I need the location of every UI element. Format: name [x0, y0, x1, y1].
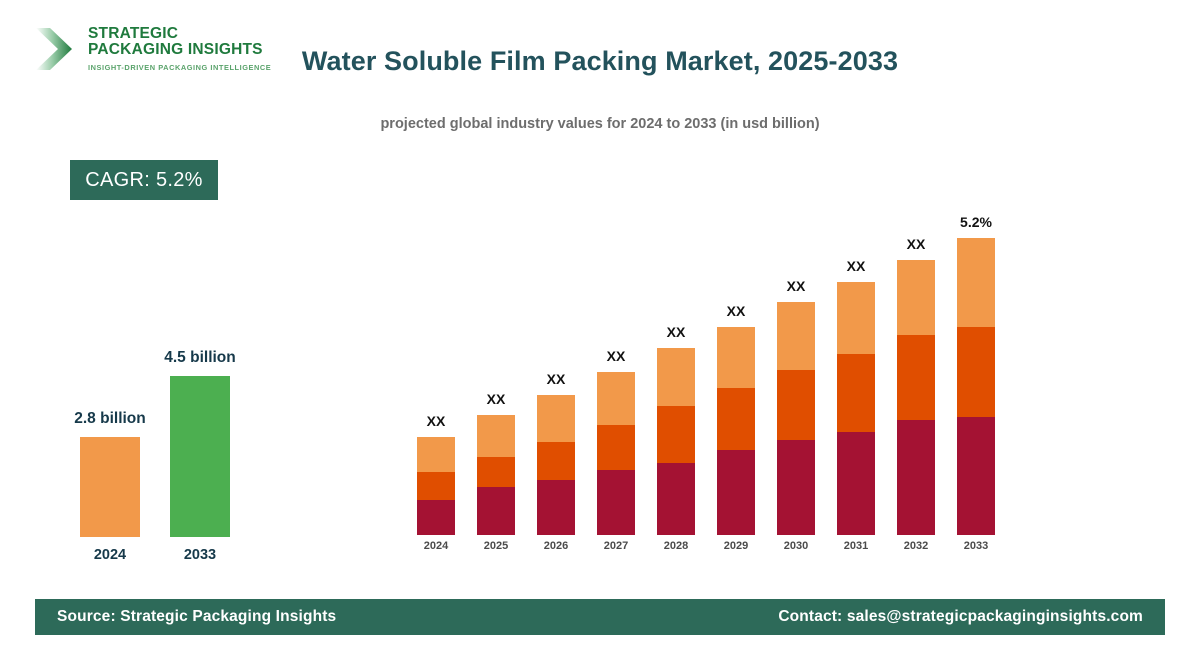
stacked-bar-2030-segment-2 — [777, 370, 815, 440]
stacked-bar-value-2028: XX — [667, 324, 686, 340]
stacked-bar-2029-segment-1 — [717, 450, 755, 535]
stacked-bar-label-2024: 2024 — [424, 540, 448, 552]
stacked-bar-label-2029: 2029 — [724, 540, 748, 552]
stacked-bar-2029-segment-2 — [717, 388, 755, 450]
stacked-bar-2032: XX2032 — [897, 260, 935, 535]
stacked-bar-value-2027: XX — [607, 348, 626, 364]
summary-bar-value-2033: 4.5 billion — [164, 349, 235, 367]
cagr-badge-label: CAGR: 5.2% — [85, 169, 202, 192]
summary-bar-label-2024: 2024 — [94, 547, 126, 563]
summary-bar-rect-2033 — [170, 376, 230, 537]
stacked-bar-value-2032: XX — [907, 236, 926, 252]
stacked-bar-value-2026: XX — [547, 371, 566, 387]
footer-bar: Source: Strategic Packaging Insights Con… — [35, 599, 1165, 635]
brand-wordmark: STRATEGIC PACKAGING INSIGHTS INSIGHT-DRI… — [88, 26, 271, 72]
stacked-bar-label-2025: 2025 — [484, 540, 508, 552]
stacked-bar-2030-segment-1 — [777, 440, 815, 535]
stacked-bar-2030-segment-3 — [777, 302, 815, 370]
stacked-bar-2024: XX2024 — [417, 437, 455, 535]
stacked-bar-2033-segment-1 — [957, 417, 995, 535]
stacked-bar-label-2032: 2032 — [904, 540, 928, 552]
stacked-bar-2032-segment-2 — [897, 335, 935, 420]
stacked-bar-label-2031: 2031 — [844, 540, 868, 552]
stacked-bar-2029: XX2029 — [717, 327, 755, 535]
stacked-bar-2031-segment-1 — [837, 432, 875, 535]
stacked-bar-2032-segment-3 — [897, 260, 935, 335]
stacked-bar-value-2030: XX — [787, 278, 806, 294]
summary-bar-value-2024: 2.8 billion — [74, 410, 145, 428]
stacked-bar-label-2027: 2027 — [604, 540, 628, 552]
stacked-bar-2027-segment-2 — [597, 425, 635, 470]
stacked-bar-2028-segment-2 — [657, 406, 695, 463]
stacked-bar-2026-segment-3 — [537, 395, 575, 442]
stacked-bar-2025: XX2025 — [477, 415, 515, 535]
stacked-bar-2031-segment-2 — [837, 354, 875, 432]
stacked-bar-label-2028: 2028 — [664, 540, 688, 552]
summary-bar-2024: 2.8 billion2024 — [80, 437, 140, 537]
brand-line-2: PACKAGING INSIGHTS — [88, 42, 271, 58]
stacked-bar-value-2033: 5.2% — [960, 214, 992, 230]
summary-bar-label-2033: 2033 — [184, 547, 216, 563]
stacked-bar-label-2026: 2026 — [544, 540, 568, 552]
page-subtitle: projected global industry values for 202… — [290, 116, 910, 132]
footer-source: Source: Strategic Packaging Insights — [57, 608, 336, 626]
stacked-bar-2024-segment-3 — [417, 437, 455, 472]
summary-bar-rect-2024 — [80, 437, 140, 537]
stacked-bar-label-2030: 2030 — [784, 540, 808, 552]
stacked-bar-2025-segment-3 — [477, 415, 515, 457]
stacked-bar-2033: 5.2%2033 — [957, 238, 995, 535]
stacked-bar-2028: XX2028 — [657, 348, 695, 535]
stacked-bar-2025-segment-2 — [477, 457, 515, 487]
stacked-bar-2033-segment-3 — [957, 238, 995, 327]
stacked-bar-label-2033: 2033 — [964, 540, 988, 552]
brand-logo: STRATEGIC PACKAGING INSIGHTS INSIGHT-DRI… — [34, 18, 284, 80]
stacked-bar-2024-segment-1 — [417, 500, 455, 535]
stacked-bar-value-2029: XX — [727, 303, 746, 319]
stacked-bar-2031: XX2031 — [837, 282, 875, 535]
stacked-bar-2028-segment-1 — [657, 463, 695, 535]
forecast-stacked-bar-chart: XX2024XX2025XX2026XX2027XX2028XX2029XX20… — [405, 205, 1015, 560]
stacked-bar-2031-segment-3 — [837, 282, 875, 354]
chevron-logo-icon — [34, 24, 78, 74]
stacked-bar-value-2024: XX — [427, 413, 446, 429]
stacked-bar-2029-segment-3 — [717, 327, 755, 388]
stacked-bar-2026-segment-2 — [537, 442, 575, 480]
cagr-badge: CAGR: 5.2% — [70, 160, 218, 200]
stacked-bar-2027-segment-1 — [597, 470, 635, 535]
brand-tagline: INSIGHT-DRIVEN PACKAGING INTELLIGENCE — [88, 63, 271, 72]
stacked-bar-2024-segment-2 — [417, 472, 455, 500]
stacked-bar-2028-segment-3 — [657, 348, 695, 406]
stacked-bar-2026-segment-1 — [537, 480, 575, 535]
stacked-bar-value-2031: XX — [847, 258, 866, 274]
summary-bar-2033: 4.5 billion2033 — [170, 376, 230, 537]
stacked-bar-2032-segment-1 — [897, 420, 935, 535]
page-title: Water Soluble Film Packing Market, 2025-… — [300, 44, 900, 80]
stacked-bar-2027: XX2027 — [597, 372, 635, 535]
stacked-bar-2026: XX2026 — [537, 395, 575, 535]
stacked-bar-2033-segment-2 — [957, 327, 995, 417]
brand-line-1: STRATEGIC — [88, 26, 271, 42]
stacked-bar-2025-segment-1 — [477, 487, 515, 535]
stacked-bar-2030: XX2030 — [777, 302, 815, 535]
stacked-bar-value-2025: XX — [487, 391, 506, 407]
stacked-bar-2027-segment-3 — [597, 372, 635, 425]
summary-bar-chart: 2.8 billion20244.5 billion2033 — [55, 300, 265, 570]
footer-contact: Contact: sales@strategicpackaginginsight… — [778, 608, 1143, 626]
